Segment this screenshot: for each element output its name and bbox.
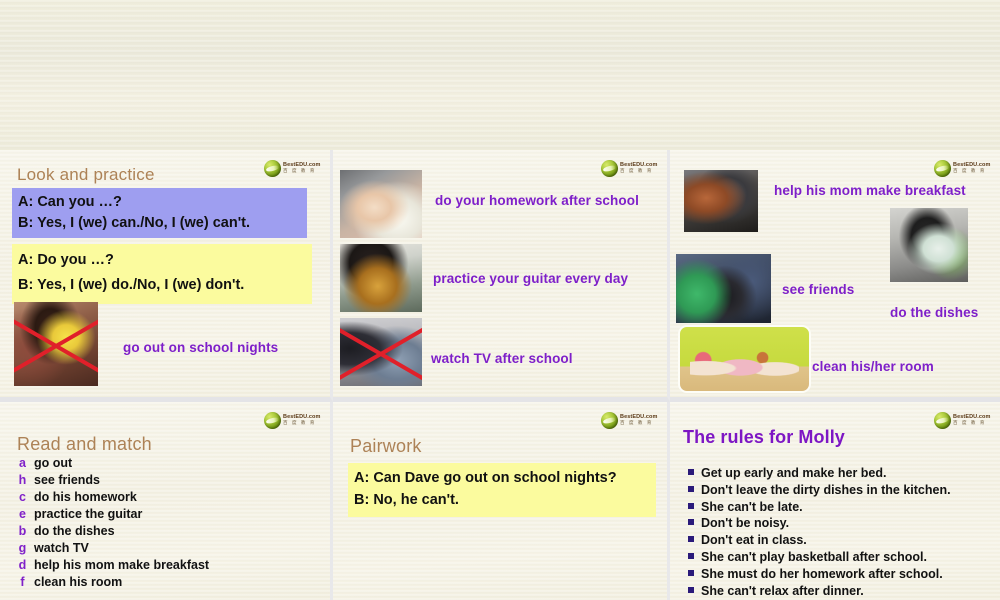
- top-banner-area: [0, 0, 1000, 150]
- dialogue-line-a: A: Do you …?: [18, 248, 306, 273]
- list-item[interactable]: e practice the guitar: [14, 507, 324, 524]
- match-letter: c: [14, 490, 31, 504]
- logo-sphere-icon: [601, 412, 618, 429]
- breakfast-photo[interactable]: [684, 170, 758, 232]
- rule-text: Don't leave the dirty dishes in the kitc…: [701, 483, 951, 497]
- square-bullet-icon: [688, 469, 694, 475]
- match-letter: b: [14, 524, 31, 538]
- list-item[interactable]: a go out: [14, 456, 324, 473]
- list-item[interactable]: d help his mom make breakfast: [14, 558, 324, 575]
- square-bullet-icon: [688, 486, 694, 492]
- dialogue-line-a: A: Can you …?: [18, 192, 301, 213]
- match-letter: g: [14, 541, 31, 555]
- slide-heading: The rules for Molly: [683, 427, 845, 448]
- slide-chores[interactable]: BestEDU.com 百 度 教 育 help his mom make br…: [670, 150, 1000, 402]
- caption-do-the-dishes: do the dishes: [890, 305, 978, 320]
- caption-help-his-mom-make-breakfast: help his mom make breakfast: [774, 183, 966, 198]
- list-item[interactable]: She can't relax after dinner.: [688, 584, 988, 600]
- list-item[interactable]: c do his homework: [14, 490, 324, 507]
- match-text: see friends: [34, 473, 100, 487]
- match-letter: h: [14, 473, 31, 487]
- match-letter: e: [14, 507, 31, 521]
- match-text: go out: [34, 456, 72, 470]
- slide-heading: Pairwork: [350, 436, 422, 457]
- square-bullet-icon: [688, 570, 694, 576]
- caption-go-out-on-school-nights: go out on school nights: [123, 340, 278, 355]
- rules-list: Get up early and make her bed. Don't lea…: [688, 466, 988, 600]
- dialogue-line-b: B: Yes, I (we) can./No, I (we) can't.: [18, 213, 301, 234]
- match-text: do his homework: [34, 490, 137, 504]
- match-letter: a: [14, 456, 31, 470]
- list-item[interactable]: She can't play basketball after school.: [688, 550, 988, 567]
- match-list: a go out h see friends c do his homework…: [14, 456, 324, 592]
- logo-subtitle: 百 度 教 育: [953, 169, 990, 174]
- logo-sphere-icon: [601, 160, 618, 177]
- slide-rules-for-molly[interactable]: BestEDU.com 百 度 教 育 The rules for Molly …: [670, 402, 1000, 600]
- match-text: help his mom make breakfast: [34, 558, 209, 572]
- friends-photo[interactable]: [676, 254, 771, 323]
- list-item[interactable]: She can't be late.: [688, 500, 988, 517]
- square-bullet-icon: [688, 519, 694, 525]
- slide-heading: Read and match: [17, 434, 152, 455]
- list-item[interactable]: Don't eat in class.: [688, 533, 988, 550]
- slide-heading: Look and practice: [17, 165, 155, 185]
- caption-watch-tv-after-school: watch TV after school: [431, 351, 573, 366]
- brand-logo: BestEDU.com 百 度 教 育: [934, 410, 990, 430]
- square-bullet-icon: [688, 587, 694, 593]
- dialogue-box-pairwork: A: Can Dave go out on school nights? B: …: [348, 463, 656, 517]
- rule-text: She must do her homework after school.: [701, 567, 943, 581]
- caption-clean-his-her-room: clean his/her room: [812, 359, 934, 374]
- rule-text: She can't play basketball after school.: [701, 550, 927, 564]
- match-text: practice the guitar: [34, 507, 142, 521]
- logo-sphere-icon: [264, 160, 281, 177]
- list-item[interactable]: She must do her homework after school.: [688, 567, 988, 584]
- dialogue-line-b: B: No, he can't.: [354, 489, 650, 511]
- dialogue-box-can: A: Can you …? B: Yes, I (we) can./No, I …: [12, 188, 307, 238]
- caption-do-your-homework-after-school: do your homework after school: [435, 193, 639, 208]
- list-item[interactable]: Get up early and make her bed.: [688, 466, 988, 483]
- logo-subtitle: 百 度 教 育: [283, 421, 320, 426]
- red-cross-overlay-icon: [340, 318, 422, 386]
- guitar-photo[interactable]: [340, 244, 422, 312]
- caption-practice-your-guitar-every-day: practice your guitar every day: [433, 271, 628, 286]
- brand-logo: BestEDU.com 百 度 教 育: [601, 158, 657, 178]
- slide-pairwork[interactable]: BestEDU.com 百 度 教 育 Pairwork A: Can Dave…: [333, 402, 670, 600]
- caption-see-friends: see friends: [782, 282, 854, 297]
- brand-logo: BestEDU.com 百 度 教 育: [934, 158, 990, 178]
- tv-photo[interactable]: [340, 318, 422, 386]
- list-item[interactable]: b do the dishes: [14, 524, 324, 541]
- dinner-photo[interactable]: [14, 302, 98, 386]
- clean-room-illustration[interactable]: [678, 325, 811, 393]
- list-item[interactable]: g watch TV: [14, 541, 324, 558]
- dialogue-line-b: B: Yes, I (we) do./No, I (we) don't.: [18, 273, 306, 298]
- slide-read-and-match[interactable]: BestEDU.com 百 度 教 育 Read and match a go …: [0, 402, 333, 600]
- square-bullet-icon: [688, 553, 694, 559]
- rule-text: Don't eat in class.: [701, 533, 807, 547]
- logo-subtitle: 百 度 教 育: [283, 169, 320, 174]
- dishes-photo[interactable]: [890, 208, 968, 282]
- slide-grid: BestEDU.com 百 度 教 育 Look and practice A:…: [0, 150, 1000, 600]
- slide-look-and-practice[interactable]: BestEDU.com 百 度 教 育 Look and practice A:…: [0, 150, 333, 402]
- rule-text: She can't relax after dinner.: [701, 584, 864, 598]
- rule-text: Get up early and make her bed.: [701, 466, 886, 480]
- list-item[interactable]: Don't be noisy.: [688, 516, 988, 533]
- logo-sphere-icon: [264, 412, 281, 429]
- list-item[interactable]: f clean his room: [14, 575, 324, 592]
- list-item[interactable]: h see friends: [14, 473, 324, 490]
- brand-logo: BestEDU.com 百 度 教 育: [264, 410, 320, 430]
- brand-logo: BestEDU.com 百 度 教 育: [601, 410, 657, 430]
- logo-sphere-icon: [934, 412, 951, 429]
- slide-activities[interactable]: BestEDU.com 百 度 教 育 do your homework aft…: [333, 150, 670, 402]
- logo-subtitle: 百 度 教 育: [620, 169, 657, 174]
- dialogue-box-do: A: Do you …? B: Yes, I (we) do./No, I (w…: [12, 244, 312, 304]
- homework-photo[interactable]: [340, 170, 422, 238]
- match-text: clean his room: [34, 575, 122, 589]
- red-cross-overlay-icon: [14, 302, 98, 386]
- logo-subtitle: 百 度 教 育: [953, 421, 990, 426]
- rule-text: She can't be late.: [701, 500, 803, 514]
- square-bullet-icon: [688, 503, 694, 509]
- logo-sphere-icon: [934, 160, 951, 177]
- match-text: do the dishes: [34, 524, 115, 538]
- match-letter: f: [14, 575, 31, 589]
- match-letter: d: [14, 558, 31, 572]
- logo-subtitle: 百 度 教 育: [620, 421, 657, 426]
- dialogue-line-a: A: Can Dave go out on school nights?: [354, 467, 650, 489]
- list-item[interactable]: Don't leave the dirty dishes in the kitc…: [688, 483, 988, 500]
- brand-logo: BestEDU.com 百 度 教 育: [264, 158, 320, 178]
- rule-text: Don't be noisy.: [701, 516, 789, 530]
- square-bullet-icon: [688, 536, 694, 542]
- match-text: watch TV: [34, 541, 89, 555]
